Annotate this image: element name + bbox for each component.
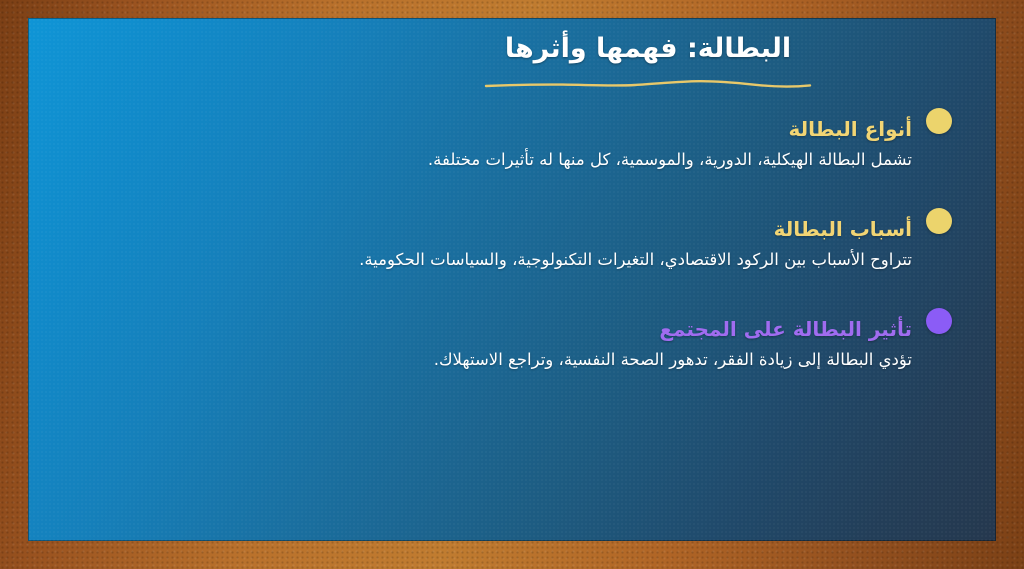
- slide-frame: البطالة: فهمها وأثرها أنواع البطالة تشمل…: [0, 0, 1024, 569]
- section-heading: أسباب البطالة: [774, 216, 912, 242]
- section-header: تأثير البطالة على المجتمع: [58, 316, 952, 342]
- slide-canvas: البطالة: فهمها وأثرها أنواع البطالة تشمل…: [28, 18, 996, 541]
- title-block: البطالة: فهمها وأثرها: [338, 32, 958, 92]
- page-title: البطالة: فهمها وأثرها: [338, 32, 958, 66]
- section-body-text: تشمل البطالة الهيكلية، الدورية، والموسمي…: [58, 148, 912, 172]
- bullet-dot-icon: [926, 108, 952, 134]
- section-heading: أنواع البطالة: [788, 116, 912, 142]
- bullet-dot-icon: [926, 208, 952, 234]
- title-underline-squiggle: [483, 76, 813, 92]
- section-body-text: تؤدي البطالة إلى زيادة الفقر، تدهور الصح…: [58, 348, 912, 372]
- section-item: تأثير البطالة على المجتمع تؤدي البطالة إ…: [58, 316, 952, 372]
- section-item: أسباب البطالة تتراوح الأسباب بين الركود …: [58, 216, 952, 272]
- section-header: أسباب البطالة: [58, 216, 952, 242]
- section-item: أنواع البطالة تشمل البطالة الهيكلية، الد…: [58, 116, 952, 172]
- section-list: أنواع البطالة تشمل البطالة الهيكلية، الد…: [28, 116, 996, 406]
- section-header: أنواع البطالة: [58, 116, 952, 142]
- bullet-dot-icon: [926, 308, 952, 334]
- section-body-text: تتراوح الأسباب بين الركود الاقتصادي، الت…: [58, 248, 912, 272]
- section-heading: تأثير البطالة على المجتمع: [659, 316, 912, 342]
